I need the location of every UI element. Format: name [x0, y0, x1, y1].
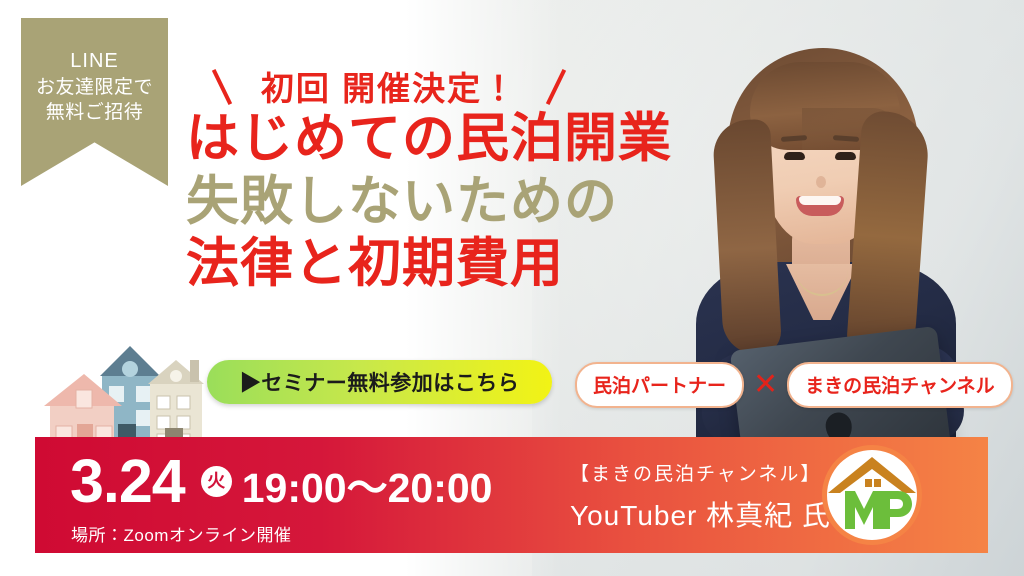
mouth	[796, 196, 844, 216]
headline-line-3: 法律と初期費用	[186, 233, 726, 296]
headline-line-1: はじめての民泊開業	[186, 108, 726, 171]
seminar-banner: LINE お友達限定で 無料ご招待 初回 開催決定！ はじめての民泊開業 失敗し…	[0, 0, 1024, 576]
speaker-channel: 【まきの民泊チャンネル】	[570, 459, 831, 486]
teeth	[799, 196, 841, 205]
event-venue: 場所：Zoomオンライン開催	[71, 521, 291, 546]
date-time-block: 3.24 火 19:00〜20:00	[70, 451, 492, 512]
badge-minpaku-partner: 民泊パートナー	[575, 362, 744, 408]
headline-kicker: 初回 開催決定！	[204, 62, 574, 108]
speaker-block: 【まきの民泊チャンネル】 YouTuber 林真紀 氏	[570, 459, 831, 534]
kicker-text: 初回 開催決定！	[251, 62, 527, 110]
weekday-badge: 火	[201, 466, 232, 497]
event-time: 19:00〜20:00	[242, 468, 493, 509]
houses-illustration	[22, 340, 227, 450]
seminar-signup-button[interactable]: ▶セミナー無料参加はこちら	[207, 360, 552, 404]
headline-block: 初回 開催決定！ はじめての民泊開業 失敗しないための 法律と初期費用	[186, 62, 726, 296]
event-info-bar: 3.24 火 19:00〜20:00 場所：Zoomオンライン開催 【まきの民泊…	[35, 437, 988, 553]
brand-logo	[820, 443, 924, 547]
nose	[816, 176, 826, 188]
eye-left	[784, 152, 805, 160]
slash-left-icon	[212, 69, 232, 105]
cross-icon: ✕	[753, 370, 778, 400]
speaker-name: YouTuber 林真紀 氏	[570, 494, 831, 534]
partner-badges: 民泊パートナー ✕ まきの民泊チャンネル	[575, 362, 1013, 408]
slash-right-icon	[546, 69, 566, 105]
ribbon-line-2: お友達限定で	[21, 75, 168, 100]
badge-makino-channel: まきの民泊チャンネル	[787, 362, 1012, 408]
ribbon-line-1: LINE	[21, 48, 168, 75]
event-date: 3.24	[70, 451, 185, 512]
ribbon-line-3: 無料ご招待	[21, 100, 168, 125]
headline-line-2: 失敗しないための	[186, 171, 726, 234]
eye-right	[835, 152, 856, 160]
